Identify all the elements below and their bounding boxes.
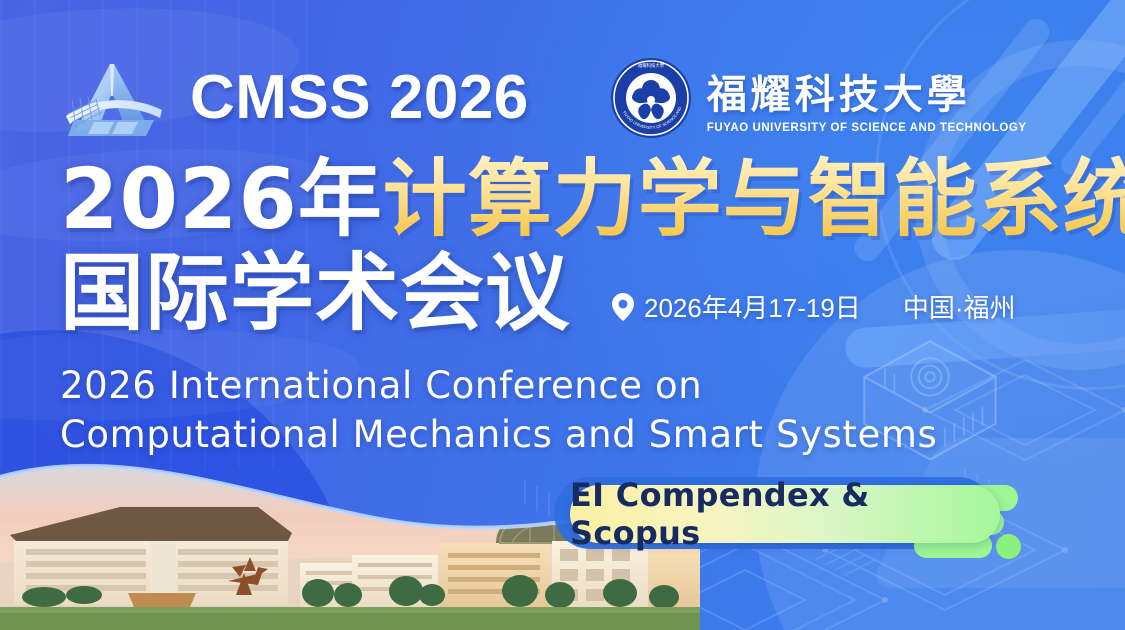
indexing-badge: EI Compendex & Scopus: [548, 477, 1048, 557]
conference-banner: CMSS 2026 福耀科技大學 FUYAO: [0, 0, 1125, 630]
fuyao-university-seal-icon: 福耀科技大學 FUYAO UNIVERSITY OF SCIENCE AND T…: [609, 56, 693, 140]
badge-label: EI Compendex & Scopus: [570, 476, 1000, 552]
subtitle-line-1: 2026 International Conference on: [60, 362, 1000, 411]
university-name-cn: 福耀科技大學: [707, 62, 1027, 120]
conference-location: 中国·福州: [903, 288, 1016, 325]
main-title-topic: 计算力学与智能系统: [383, 150, 1125, 248]
university-names: 福耀科技大學 FUYAO UNIVERSITY OF SCIENCE AND T…: [707, 62, 1027, 134]
main-title-event-type: 国际学术会议: [60, 254, 570, 334]
main-title-line-1: 2026年计算力学与智能系统: [60, 160, 1100, 240]
cmss-triangle-bridge-icon: [58, 52, 168, 144]
banner-header: CMSS 2026 福耀科技大學 FUYAO: [58, 46, 1125, 150]
location-pin-icon: [612, 293, 634, 321]
subtitle-line-2: Computational Mechanics and Smart System…: [60, 411, 1000, 460]
subtitle-english: 2026 International Conference on Computa…: [60, 362, 1000, 460]
date-location-row: 2026年4月17-19日 中国·福州: [612, 288, 1015, 325]
main-title-year: 2026年: [60, 150, 383, 248]
university-logo-block: 福耀科技大學 FUYAO UNIVERSITY OF SCIENCE AND T…: [609, 56, 1027, 140]
conference-date: 2026年4月17-19日: [644, 288, 861, 325]
university-name-en: FUYAO UNIVERSITY OF SCIENCE AND TECHNOLO…: [707, 122, 1027, 134]
svg-text:福耀科技大學: 福耀科技大學: [638, 62, 665, 69]
badge-pill: EI Compendex & Scopus: [570, 485, 1000, 543]
conference-acronym-title: CMSS 2026: [190, 67, 529, 129]
